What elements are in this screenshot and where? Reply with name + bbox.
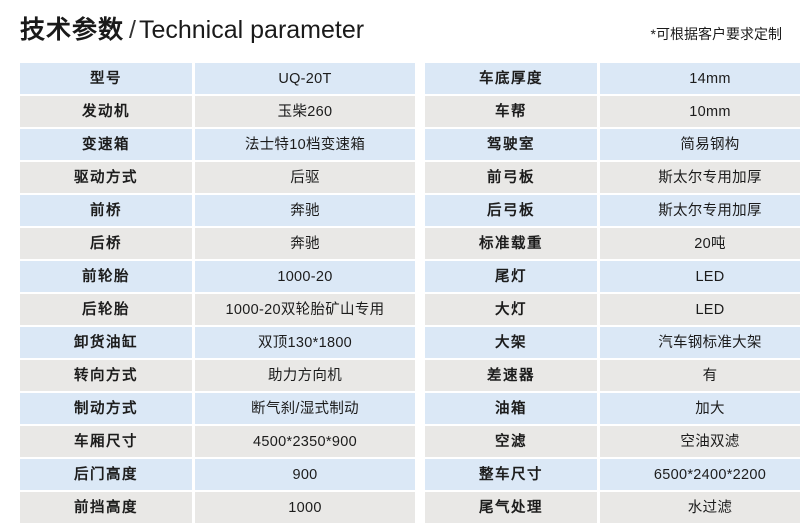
table-row: 后桥奔驰 (20, 227, 415, 260)
spec-value: 玉柴260 (194, 95, 416, 128)
table-row: 前桥奔驰 (20, 194, 415, 227)
table-row: 车厢尺寸4500*2350*900 (20, 425, 415, 458)
spec-value: 有 (599, 359, 800, 392)
table-row: 驾驶室简易钢构 (425, 128, 800, 161)
spec-label: 型号 (20, 63, 194, 95)
customization-note: *可根据客户要求定制 (651, 25, 782, 43)
spec-value: 14mm (599, 63, 800, 95)
page-title-separator: / (124, 16, 139, 44)
table-row: 大灯LED (425, 293, 800, 326)
table-row: 车帮10mm (425, 95, 800, 128)
spec-value: 奔驰 (194, 227, 416, 260)
spec-value: 汽车钢标准大架 (599, 326, 800, 359)
page-header: 技术参数/Technical parameter *可根据客户要求定制 (0, 0, 800, 60)
spec-value: 1000 (194, 491, 416, 523)
page-title-chinese: 技术参数 (20, 16, 124, 44)
spec-label: 车底厚度 (425, 63, 599, 95)
table-row: 变速箱法士特10档变速箱 (20, 128, 415, 161)
spec-label: 后轮胎 (20, 293, 194, 326)
table-row: 整车尺寸6500*2400*2200 (425, 458, 800, 491)
spec-label: 车帮 (425, 95, 599, 128)
technical-parameter-page: 技术参数/Technical parameter *可根据客户要求定制 型号UQ… (0, 0, 800, 526)
spec-value: 斯太尔专用加厚 (599, 161, 800, 194)
spec-value: LED (599, 293, 800, 326)
spec-label: 制动方式 (20, 392, 194, 425)
table-row: 前挡高度1000 (20, 491, 415, 523)
spec-label: 尾灯 (425, 260, 599, 293)
spec-value: 空油双滤 (599, 425, 800, 458)
spec-value: 法士特10档变速箱 (194, 128, 416, 161)
spec-label: 车厢尺寸 (20, 425, 194, 458)
spec-label: 转向方式 (20, 359, 194, 392)
spec-table-right: 车底厚度14mm车帮10mm驾驶室简易钢构前弓板斯太尔专用加厚后弓板斯太尔专用加… (425, 63, 800, 523)
spec-value: 4500*2350*900 (194, 425, 416, 458)
spec-value: 加大 (599, 392, 800, 425)
spec-label: 标准载重 (425, 227, 599, 260)
spec-value: 助力方向机 (194, 359, 416, 392)
spec-label: 发动机 (20, 95, 194, 128)
table-row: 空滤空油双滤 (425, 425, 800, 458)
spec-label: 后桥 (20, 227, 194, 260)
spec-label: 变速箱 (20, 128, 194, 161)
spec-value: 斯太尔专用加厚 (599, 194, 800, 227)
spec-label: 大灯 (425, 293, 599, 326)
page-title: 技术参数/Technical parameter (20, 14, 364, 46)
table-row: 标准载重20吨 (425, 227, 800, 260)
table-row: 前轮胎1000-20 (20, 260, 415, 293)
table-row: 转向方式助力方向机 (20, 359, 415, 392)
spec-label: 驱动方式 (20, 161, 194, 194)
table-row: 型号UQ-20T (20, 63, 415, 95)
spec-value: 1000-20双轮胎矿山专用 (194, 293, 416, 326)
table-row: 车底厚度14mm (425, 63, 800, 95)
spec-label: 整车尺寸 (425, 458, 599, 491)
spec-value: 1000-20 (194, 260, 416, 293)
spec-label: 前桥 (20, 194, 194, 227)
table-row: 差速器有 (425, 359, 800, 392)
table-row: 后弓板斯太尔专用加厚 (425, 194, 800, 227)
spec-label: 后门高度 (20, 458, 194, 491)
spec-value: 水过滤 (599, 491, 800, 523)
table-row: 前弓板斯太尔专用加厚 (425, 161, 800, 194)
spec-label: 前轮胎 (20, 260, 194, 293)
spec-label: 后弓板 (425, 194, 599, 227)
spec-label: 大架 (425, 326, 599, 359)
spec-value: LED (599, 260, 800, 293)
spec-label: 尾气处理 (425, 491, 599, 523)
spec-value: 简易钢构 (599, 128, 800, 161)
table-row: 卸货油缸双顶130*1800 (20, 326, 415, 359)
spec-tables-container: 型号UQ-20T发动机玉柴260变速箱法士特10档变速箱驱动方式后驱前桥奔驰后桥… (20, 63, 782, 523)
table-row: 尾灯LED (425, 260, 800, 293)
table-row: 驱动方式后驱 (20, 161, 415, 194)
spec-label: 油箱 (425, 392, 599, 425)
spec-value: 6500*2400*2200 (599, 458, 800, 491)
spec-value: 双顶130*1800 (194, 326, 416, 359)
spec-table-left: 型号UQ-20T发动机玉柴260变速箱法士特10档变速箱驱动方式后驱前桥奔驰后桥… (20, 63, 415, 523)
spec-label: 驾驶室 (425, 128, 599, 161)
table-row: 发动机玉柴260 (20, 95, 415, 128)
table-row: 后轮胎1000-20双轮胎矿山专用 (20, 293, 415, 326)
table-row: 尾气处理水过滤 (425, 491, 800, 523)
spec-table-left-body: 型号UQ-20T发动机玉柴260变速箱法士特10档变速箱驱动方式后驱前桥奔驰后桥… (20, 63, 415, 523)
spec-value: 20吨 (599, 227, 800, 260)
spec-value: 断气刹/湿式制动 (194, 392, 416, 425)
spec-label: 卸货油缸 (20, 326, 194, 359)
spec-value: UQ-20T (194, 63, 416, 95)
spec-table-right-body: 车底厚度14mm车帮10mm驾驶室简易钢构前弓板斯太尔专用加厚后弓板斯太尔专用加… (425, 63, 800, 523)
table-row: 制动方式断气刹/湿式制动 (20, 392, 415, 425)
page-title-english: Technical parameter (139, 16, 364, 44)
spec-value: 900 (194, 458, 416, 491)
spec-label: 空滤 (425, 425, 599, 458)
spec-label: 前弓板 (425, 161, 599, 194)
spec-value: 后驱 (194, 161, 416, 194)
table-row: 油箱加大 (425, 392, 800, 425)
spec-value: 奔驰 (194, 194, 416, 227)
spec-label: 前挡高度 (20, 491, 194, 523)
spec-value: 10mm (599, 95, 800, 128)
table-row: 后门高度900 (20, 458, 415, 491)
spec-label: 差速器 (425, 359, 599, 392)
table-row: 大架汽车钢标准大架 (425, 326, 800, 359)
